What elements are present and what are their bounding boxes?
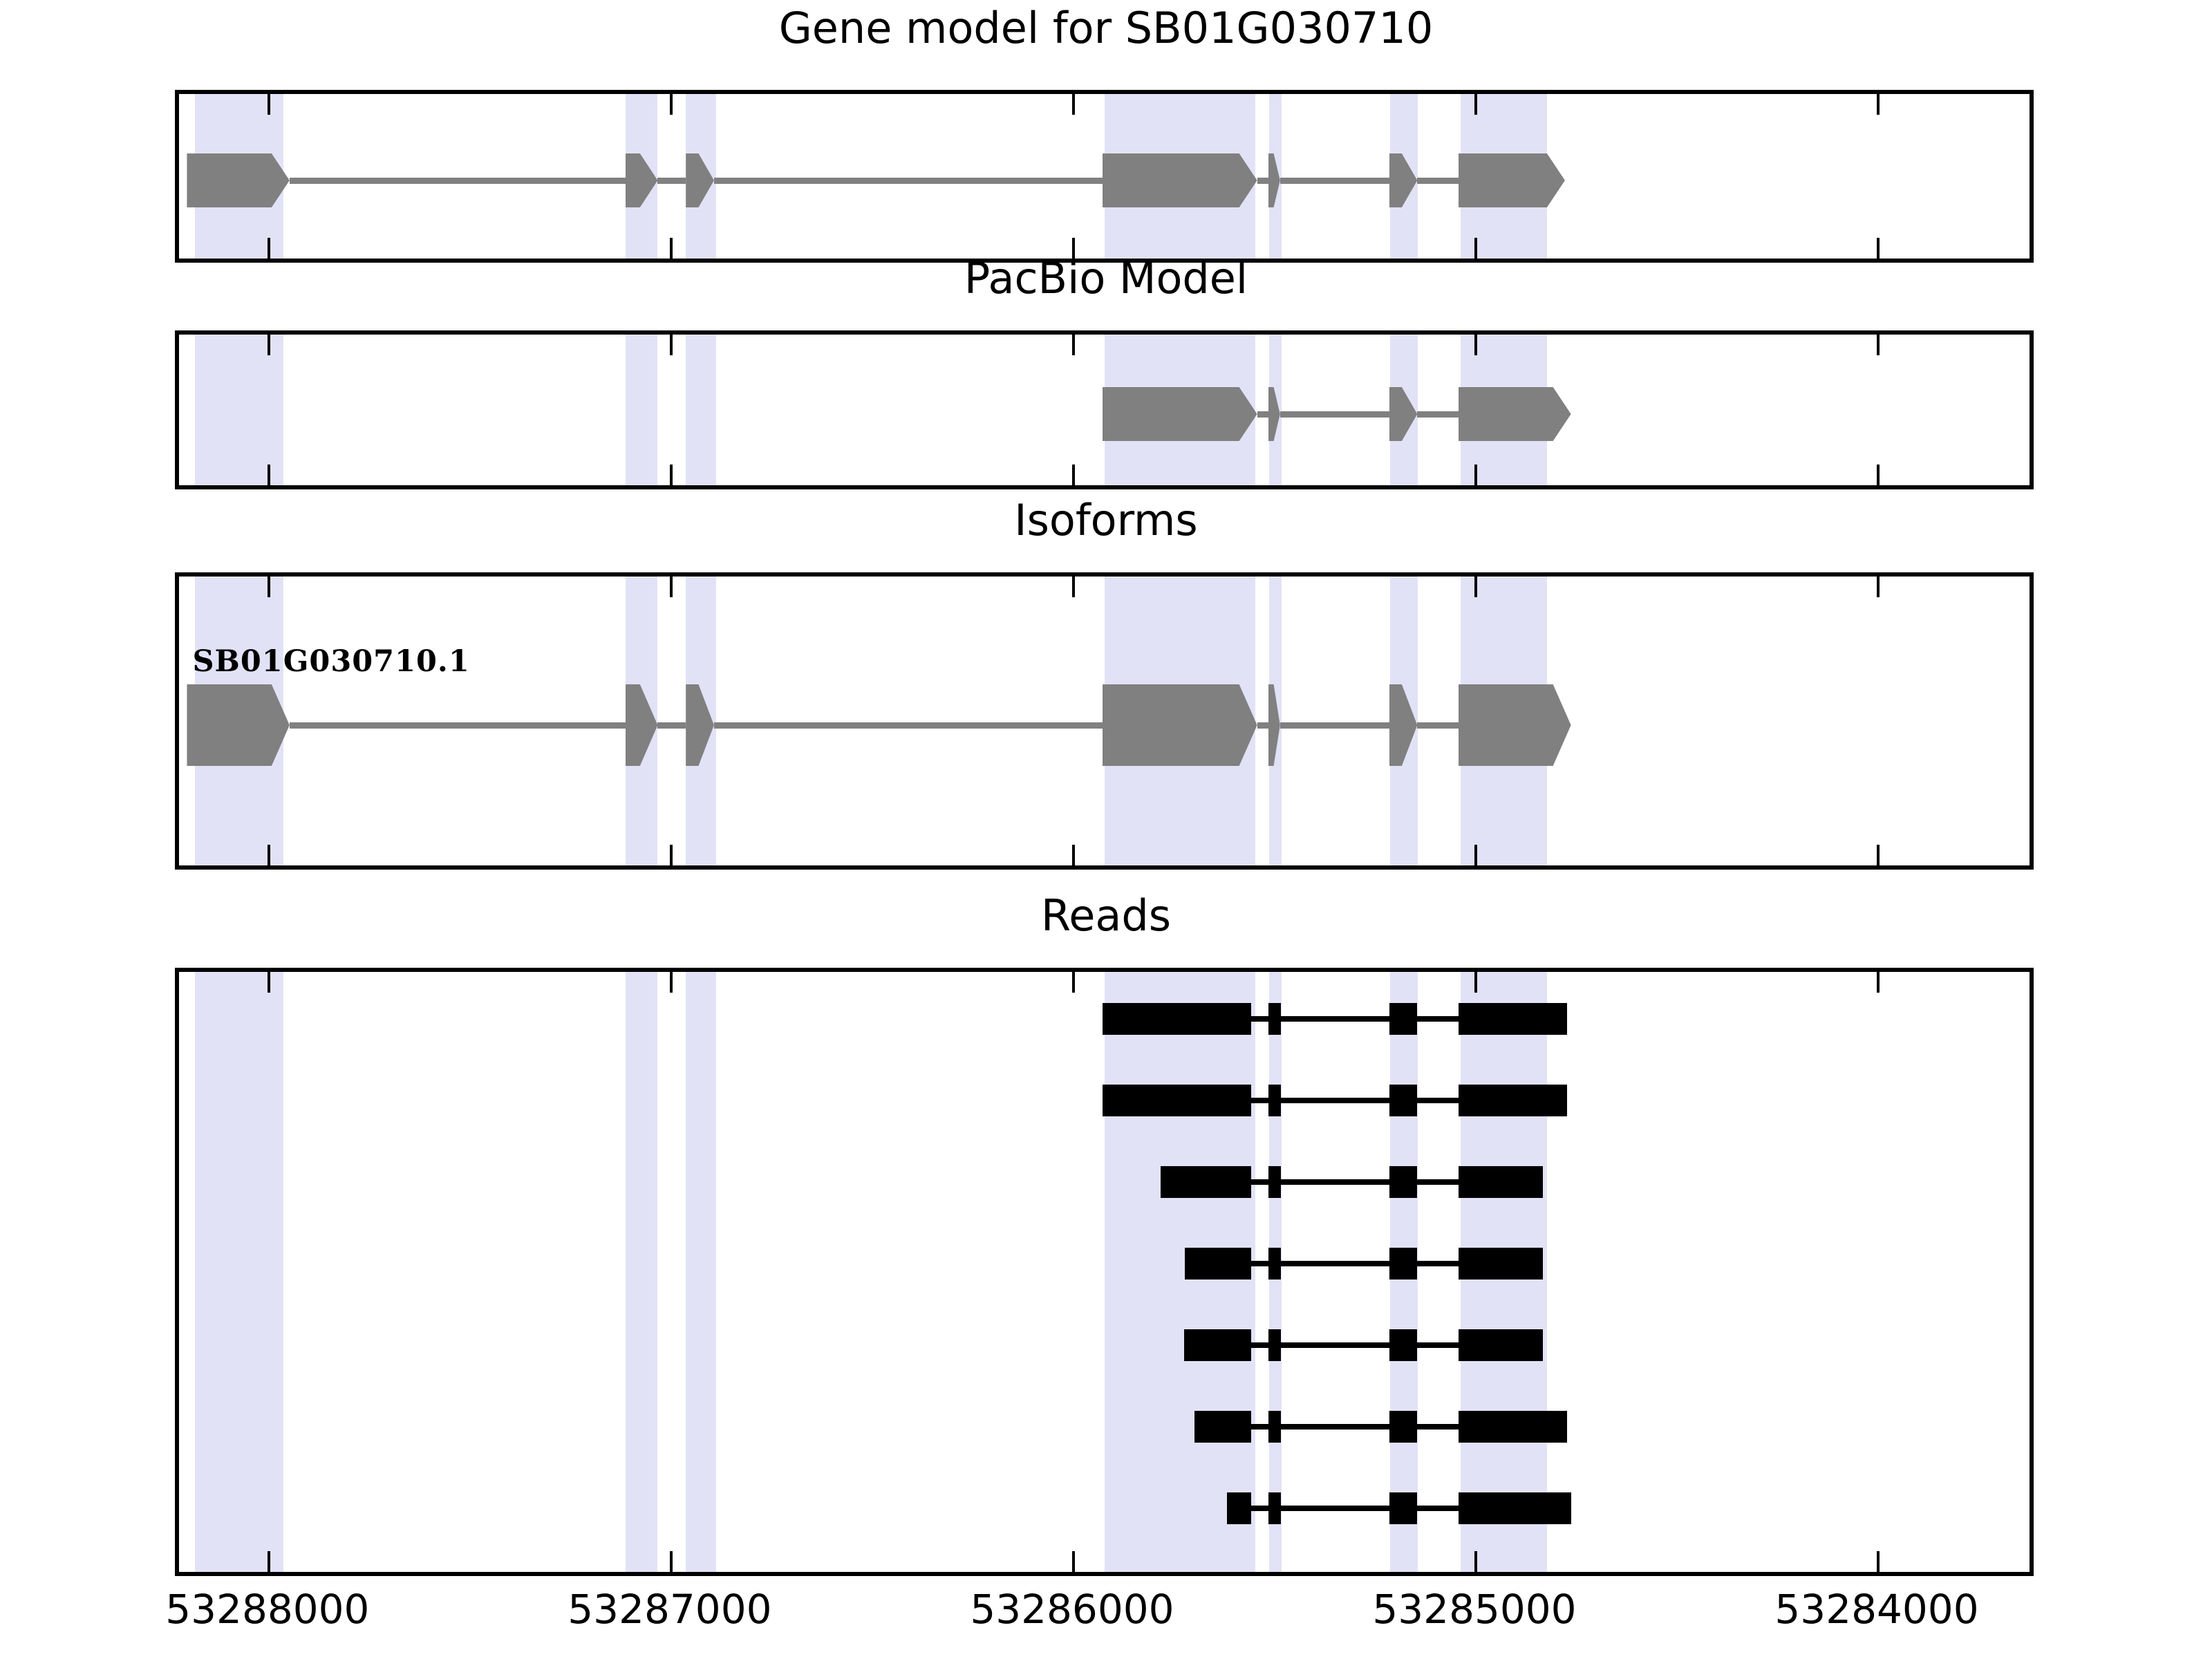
read-exon-block[interactable] — [1103, 1003, 1251, 1035]
gene-model-title: Gene model for SB01G030710 — [0, 7, 2212, 50]
axis-tick-mark — [268, 238, 270, 259]
intron-line — [290, 178, 626, 184]
axis-tick-mark — [1877, 94, 1880, 115]
isoforms-panel[interactable]: SB01G030710.1 — [175, 572, 2034, 870]
read-exon-block[interactable] — [1389, 1166, 1418, 1198]
axis-tick-mark — [268, 335, 270, 355]
read-exon-block[interactable] — [1268, 1492, 1281, 1524]
intron-line — [290, 722, 626, 729]
axis-tick-mark — [1072, 94, 1075, 115]
exon-block[interactable] — [1459, 684, 1571, 766]
axis-tick-mark — [1877, 972, 1880, 993]
intron-line — [657, 178, 686, 184]
axis-tick-mark — [1072, 972, 1075, 993]
axis-tick-mark — [670, 94, 673, 115]
intron-line — [1257, 722, 1268, 729]
read-exon-block[interactable] — [1185, 1248, 1251, 1280]
axis-tick-mark — [1877, 845, 1880, 865]
axis-tick-mark — [268, 94, 270, 115]
read-exon-block[interactable] — [1389, 1492, 1418, 1524]
highlight-band — [686, 972, 716, 1572]
axis-tick-mark — [1877, 1551, 1880, 1572]
intron-line — [1280, 722, 1389, 729]
intron-line — [1251, 1424, 1268, 1430]
read-exon-block[interactable] — [1268, 1085, 1281, 1116]
intron-line — [1417, 1342, 1458, 1348]
read-exon-block[interactable] — [1459, 1248, 1543, 1280]
axis-tick-label: 53284000 — [1774, 1586, 1978, 1633]
read-exon-block[interactable] — [1389, 1411, 1418, 1443]
highlight-band — [686, 335, 716, 485]
intron-line — [1280, 1506, 1389, 1511]
intron-line — [1417, 1098, 1458, 1103]
axis-tick-mark — [1072, 465, 1075, 485]
axis-tick-mark — [1474, 335, 1477, 355]
intron-line — [1280, 1098, 1389, 1103]
read-exon-block[interactable] — [1184, 1329, 1251, 1361]
intron-line — [1417, 1506, 1458, 1511]
figure-canvas: Gene model for SB01G030710 PacBio Model … — [0, 0, 2212, 1659]
intron-line — [1280, 1179, 1389, 1185]
read-exon-block[interactable] — [1268, 1003, 1281, 1035]
axis-tick-mark — [1474, 94, 1477, 115]
intron-line — [657, 722, 686, 729]
read-exon-block[interactable] — [1103, 1085, 1251, 1116]
intron-line — [714, 178, 1103, 184]
exon-block[interactable] — [1103, 387, 1257, 441]
axis-tick-mark — [1072, 335, 1075, 355]
intron-line — [1251, 1179, 1268, 1185]
intron-line — [1251, 1342, 1268, 1348]
axis-tick-mark — [268, 972, 270, 993]
axis-tick-mark — [670, 972, 673, 993]
axis-tick-mark — [1877, 335, 1880, 355]
read-exon-block[interactable] — [1459, 1329, 1543, 1361]
axis-tick-mark — [670, 1551, 673, 1572]
intron-line — [1280, 411, 1389, 418]
axis-tick-mark — [670, 335, 673, 355]
axis-tick-label: 53288000 — [165, 1586, 369, 1633]
intron-line — [1417, 1179, 1458, 1185]
gene-model-panel[interactable] — [175, 90, 2034, 263]
read-exon-block[interactable] — [1389, 1248, 1418, 1280]
intron-line — [1251, 1261, 1268, 1266]
axis-tick-mark — [1877, 465, 1880, 485]
read-exon-block[interactable] — [1459, 1003, 1567, 1035]
read-exon-block[interactable] — [1459, 1085, 1567, 1116]
intron-line — [1280, 1016, 1389, 1022]
highlight-band — [626, 972, 658, 1572]
axis-tick-label: 53286000 — [970, 1586, 1174, 1633]
intron-line — [1280, 1424, 1389, 1430]
read-exon-block[interactable] — [1161, 1166, 1251, 1198]
highlight-band — [195, 335, 283, 485]
intron-line — [1280, 1342, 1389, 1348]
reads-title: Reads — [0, 894, 2212, 937]
intron-line — [1251, 1016, 1268, 1022]
intron-line — [1280, 1261, 1389, 1266]
read-exon-block[interactable] — [1268, 1329, 1281, 1361]
reads-panel[interactable] — [175, 968, 2034, 1576]
intron-line — [1280, 178, 1389, 184]
intron-line — [1417, 1261, 1458, 1266]
axis-tick-mark — [670, 577, 673, 597]
axis-tick-mark — [670, 238, 673, 259]
intron-line — [1417, 178, 1458, 184]
axis-tick-mark — [268, 845, 270, 865]
read-exon-block[interactable] — [1389, 1085, 1418, 1116]
exon-block[interactable] — [187, 153, 289, 207]
intron-line — [1257, 178, 1268, 184]
axis-tick-mark — [1474, 972, 1477, 993]
axis-tick-mark — [1474, 238, 1477, 259]
read-exon-block[interactable] — [1389, 1329, 1418, 1361]
axis-tick-mark — [268, 577, 270, 597]
pacbio-model-title: PacBio Model — [0, 257, 2212, 300]
exon-block[interactable] — [1103, 153, 1257, 207]
axis-tick-mark — [670, 845, 673, 865]
read-exon-block[interactable] — [1459, 1492, 1571, 1524]
axis-tick-mark — [1877, 577, 1880, 597]
axis-tick-label: 53287000 — [568, 1586, 771, 1633]
exon-block[interactable] — [1103, 684, 1257, 766]
axis-tick-mark — [670, 465, 673, 485]
read-exon-block[interactable] — [1194, 1411, 1250, 1443]
read-exon-block[interactable] — [1459, 1411, 1567, 1443]
axis-tick-mark — [1072, 845, 1075, 865]
intron-line — [714, 722, 1103, 729]
intron-line — [1257, 411, 1268, 418]
axis-tick-mark — [1474, 465, 1477, 485]
read-exon-block[interactable] — [1268, 1166, 1281, 1198]
exon-block[interactable] — [187, 684, 289, 766]
intron-line — [1251, 1098, 1268, 1103]
axis-tick-mark — [1474, 845, 1477, 865]
read-exon-block[interactable] — [1268, 1411, 1281, 1443]
isoforms-title: Isoforms — [0, 499, 2212, 542]
axis-tick-mark — [1877, 238, 1880, 259]
highlight-band — [626, 335, 658, 485]
axis-tick-label: 53285000 — [1372, 1586, 1576, 1633]
axis-tick-mark — [268, 465, 270, 485]
intron-line — [1417, 722, 1458, 729]
read-exon-block[interactable] — [1389, 1003, 1418, 1035]
highlight-band — [195, 972, 283, 1572]
axis-tick-mark — [268, 1551, 270, 1572]
axis-tick-mark — [1474, 577, 1477, 597]
pacbio-model-panel[interactable] — [175, 330, 2034, 489]
intron-line — [1417, 411, 1458, 418]
axis-tick-mark — [1072, 1551, 1075, 1572]
axis-tick-mark — [1474, 1551, 1477, 1572]
exon-block[interactable] — [1459, 153, 1565, 207]
axis-tick-mark — [1072, 577, 1075, 597]
read-exon-block[interactable] — [1227, 1492, 1251, 1524]
intron-line — [1417, 1016, 1458, 1022]
exon-block[interactable] — [1459, 387, 1571, 441]
intron-line — [1251, 1506, 1268, 1511]
read-exon-block[interactable] — [1268, 1248, 1281, 1280]
isoform-label: SB01G030710.1 — [192, 644, 469, 679]
read-exon-block[interactable] — [1459, 1166, 1543, 1198]
intron-line — [1417, 1424, 1458, 1430]
